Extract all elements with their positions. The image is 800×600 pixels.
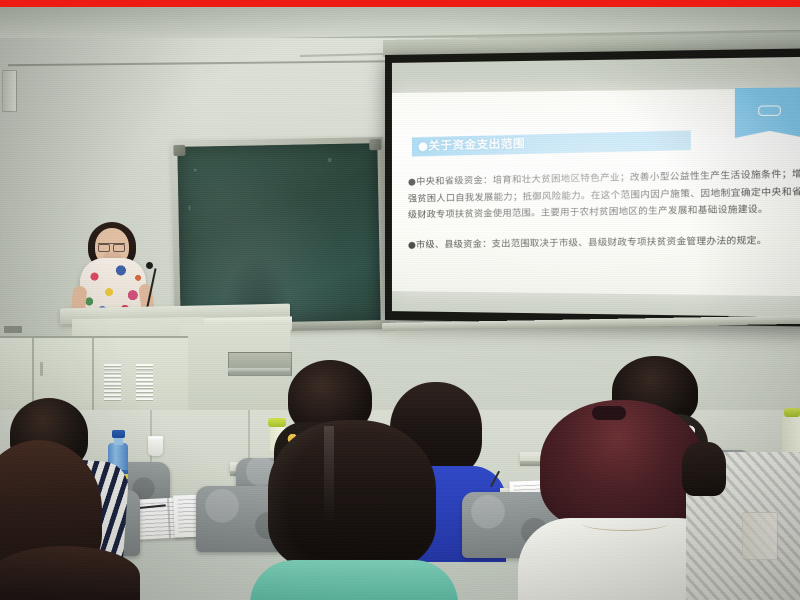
yellow-cap-bottle-cap xyxy=(268,418,286,427)
audience-hair xyxy=(682,442,726,496)
slide-paragraph-2: ●市级、县级资金：支出范围取决于市级、县级财政专项扶贫资金管理办法的规定。 xyxy=(408,232,800,254)
classroom-photo: ●关于资金支出范围 ●中央和省级资金：培育和壮大贫困地区特色产业；改善小型公益性… xyxy=(0,0,800,600)
cabinet-handle xyxy=(40,362,43,376)
cabinet-top-object xyxy=(4,326,22,333)
slide-body: ●中央和省级资金：培育和壮大贫困地区特色产业；改善小型公益性生产生活设施条件；增… xyxy=(408,166,800,266)
slide-ribbon-decoration xyxy=(735,87,800,138)
slide-content: ●关于资金支出范围 ●中央和省级资金：培育和壮大贫困地区特色产业；改善小型公益性… xyxy=(392,88,800,296)
wall-mounted-box xyxy=(2,70,17,112)
cabinet-vent-left xyxy=(104,364,121,398)
hair-tie-band xyxy=(592,406,626,420)
board-corner-bracket xyxy=(173,145,185,156)
hair-parting-highlight xyxy=(324,426,334,522)
slide-title: ●关于资金支出范围 xyxy=(418,135,525,154)
audience-hair-long-straight xyxy=(268,420,436,570)
green-chalkboard xyxy=(171,137,387,331)
audience-hair-burgundy xyxy=(540,400,704,530)
audience-mint-top xyxy=(250,560,458,600)
projection-screen: ●关于资金支出范围 ●中央和省级资金：培育和壮大贫困地区特色产业；改善小型公益性… xyxy=(385,48,800,326)
screen-surface: ●关于资金支出范围 ●中央和省级资金：培育和壮大贫困地区特色产业；改善小型公益性… xyxy=(392,57,800,317)
desk-drawer-rail xyxy=(228,368,290,373)
eyeglasses-icon xyxy=(98,243,125,251)
glass-tumbler xyxy=(742,512,778,560)
far-right-bottle-cap xyxy=(784,408,800,417)
chalk-speck xyxy=(328,158,332,162)
necklace xyxy=(582,516,668,531)
board-corner-bracket xyxy=(369,139,381,150)
projected-slide: ●关于资金支出范围 ●中央和省级资金：培育和壮大贫困地区特色产业；改善小型公益性… xyxy=(392,88,800,296)
slide-number-badge-icon xyxy=(758,105,781,116)
cabinet-vent-right xyxy=(136,364,153,398)
chalkboard-surface xyxy=(177,143,380,325)
slide-paragraph-1: ●中央和省级资金：培育和壮大贫困地区特色产业；改善小型公益性生产生活设施条件；增… xyxy=(408,166,800,224)
paper-cup xyxy=(148,436,163,456)
top-red-border xyxy=(0,0,800,7)
microphone-icon xyxy=(146,262,153,269)
bottle-cap xyxy=(112,430,125,438)
chalk-speck xyxy=(188,205,190,211)
chalk-speck xyxy=(194,169,197,172)
